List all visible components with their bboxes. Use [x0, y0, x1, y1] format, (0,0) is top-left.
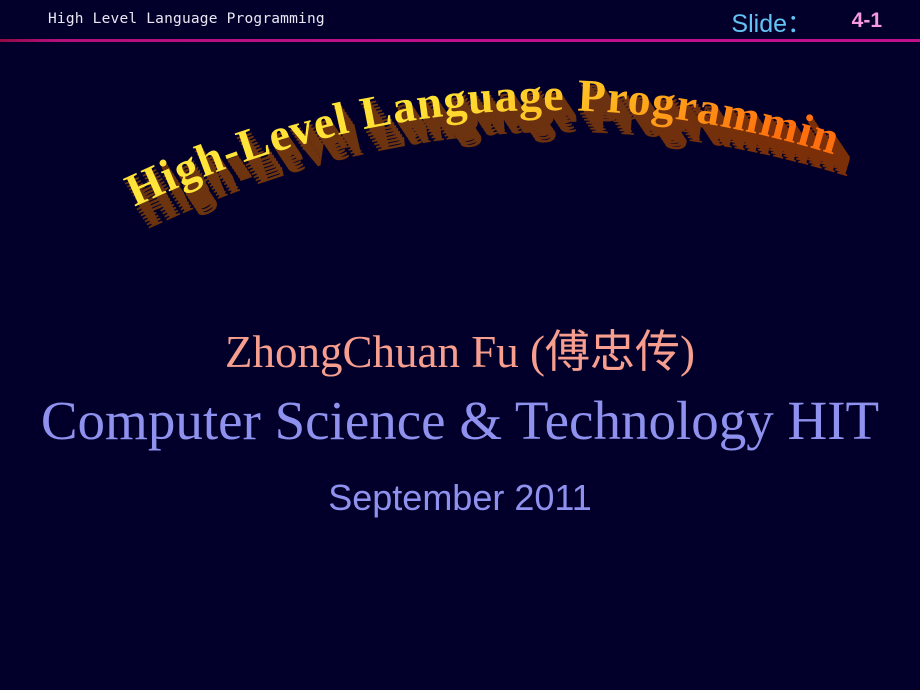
slide-label: Slide： [731, 4, 812, 40]
date-line: September 2011 [0, 480, 920, 516]
presentation-slide: High Level Language Programming Slide： 4… [0, 0, 920, 690]
wordart-svg: High-Level Language Programming High-Lev… [90, 58, 860, 233]
department-line: Computer Science & Technology HIT [0, 393, 920, 448]
slide-body: ZhongChuan Fu (傅忠传) Computer Science & T… [0, 330, 920, 516]
header-title: High Level Language Programming [48, 11, 325, 27]
header-divider-rule [0, 39, 920, 42]
slide-number: 4-1 [852, 9, 882, 33]
wordart-title: High-Level Language Programming High-Lev… [90, 58, 860, 233]
slide-header: High Level Language Programming Slide： 4… [0, 0, 920, 39]
author-line: ZhongChuan Fu (傅忠传) [0, 330, 920, 375]
